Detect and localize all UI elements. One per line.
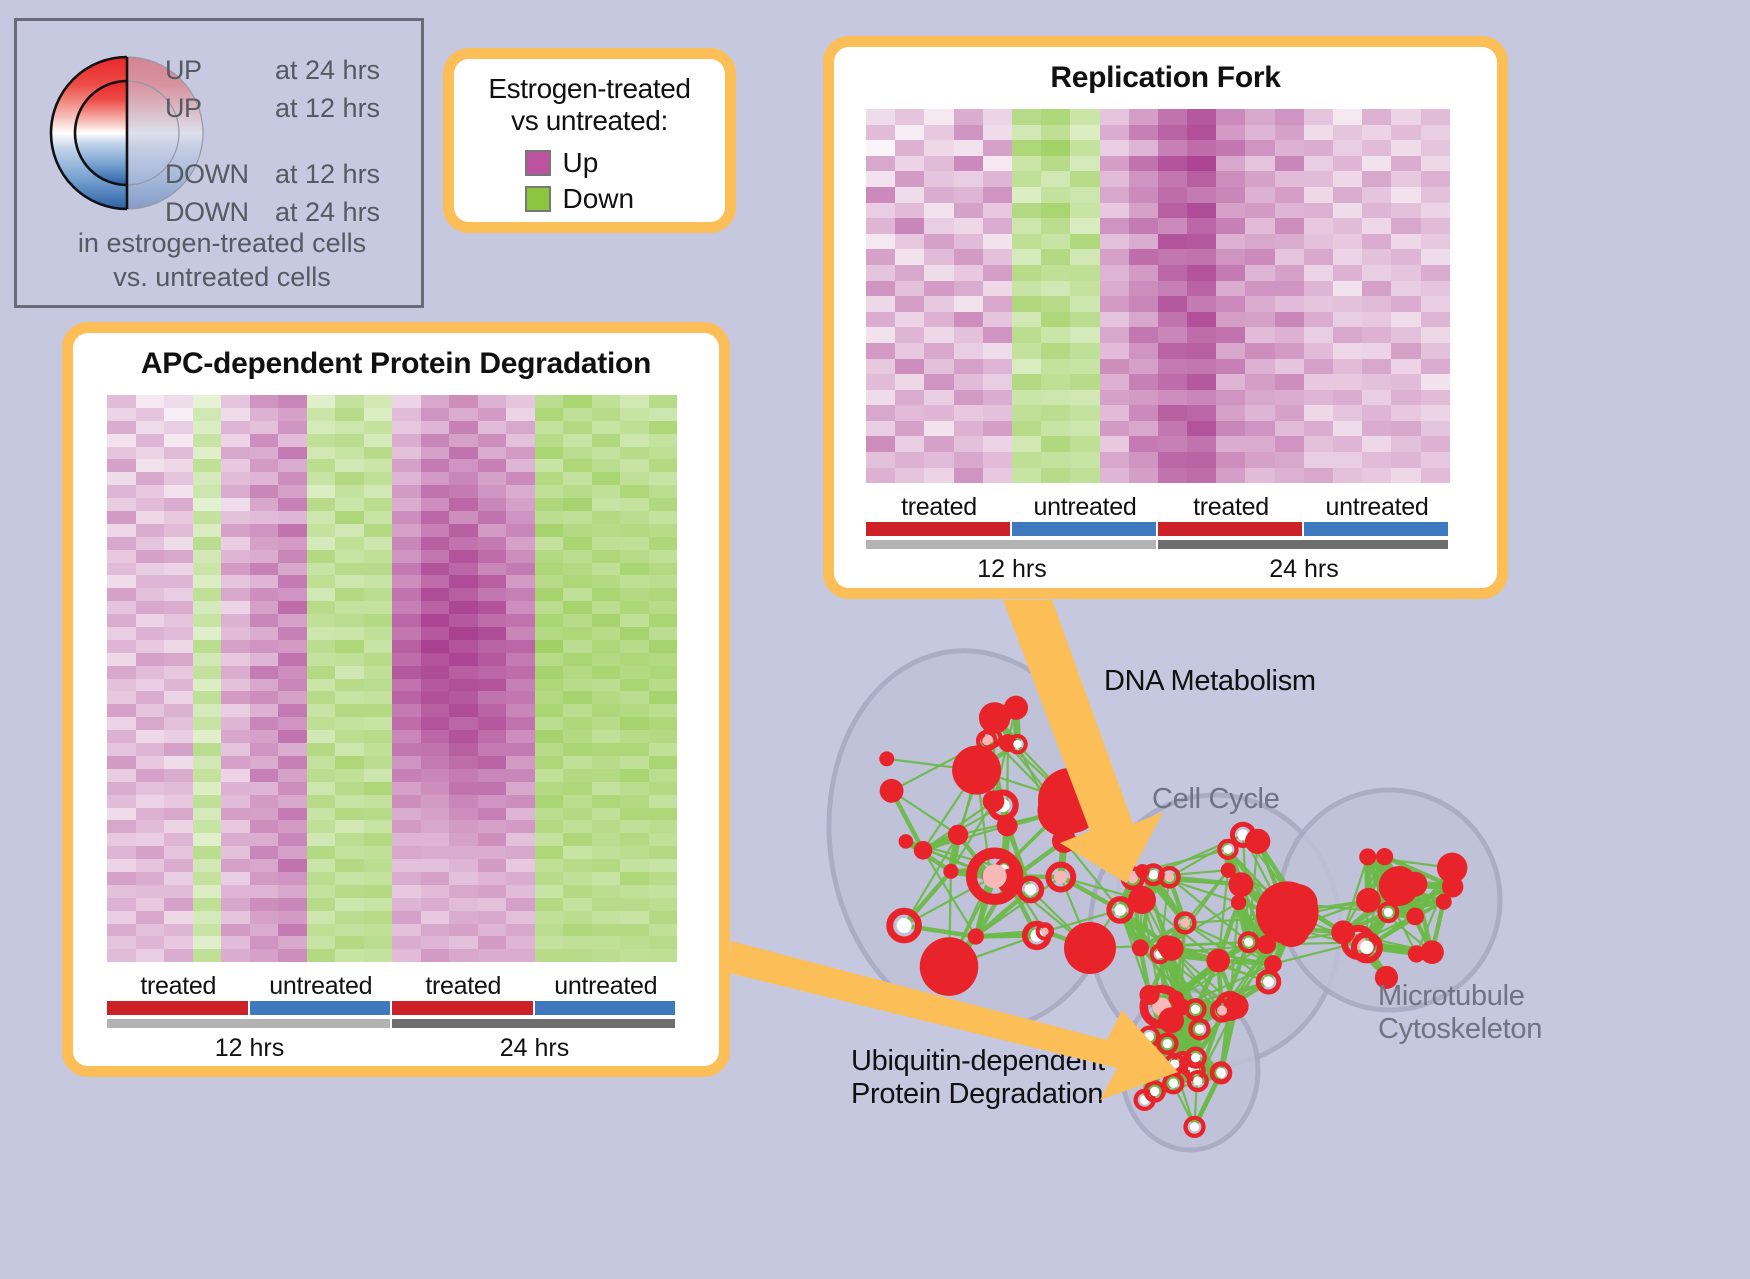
heatmap-cell [1070,468,1099,484]
network-node[interactable] [899,834,914,849]
heatmap-cell [1275,296,1304,312]
heatmap-cell [250,704,279,717]
network-node[interactable] [1206,949,1230,973]
heatmap-cell [164,924,193,937]
heatmap-cell [1041,265,1070,281]
heatmap-cell [449,872,478,885]
heatmap-cell [592,537,621,550]
heatmap-cell [307,730,336,743]
heatmap-cell [164,408,193,421]
heatmap-cell [1275,436,1304,452]
heatmap-cell [1012,405,1041,421]
condition-labels: treateduntreatedtreateduntreated [866,493,1465,522]
heatmap-cell [1187,405,1216,421]
heatmap-cell [1362,312,1391,328]
heatmap-cell [1070,265,1099,281]
heatmap-cell [193,911,222,924]
heatmap-cell [136,601,165,614]
ring-legend-caption: in estrogen-treated cells vs. untreated … [17,227,427,295]
heatmap-cell [278,485,307,498]
network-node[interactable] [1331,920,1355,944]
network-node-core [1149,870,1159,880]
heatmap-cell [620,653,649,666]
heatmap-cell [954,203,983,219]
heatmap-cell [392,550,421,563]
heatmap-cell [535,769,564,782]
heatmap-cell [392,743,421,756]
network-node[interactable] [1064,922,1116,974]
network-node[interactable] [1157,935,1178,956]
heatmap-cell [421,911,450,924]
heatmap-cell [364,898,393,911]
heatmap-cell [307,808,336,821]
heatmap-cell [1421,343,1450,359]
heatmap-cell [335,537,364,550]
heatmap-cell [649,395,678,408]
heatmap-cell [221,743,250,756]
network-node[interactable] [1139,985,1159,1005]
network-node[interactable] [1231,895,1246,910]
heatmap-cell [866,249,895,265]
heatmap-cell [193,795,222,808]
heatmap-cell [1245,203,1274,219]
timepoint-color-bar [107,1019,685,1028]
network-node[interactable] [968,928,984,944]
heatmap-cell [649,640,678,653]
heatmap-cell [250,679,279,692]
heatmap-cell [1333,468,1362,484]
heatmap-cell [221,575,250,588]
heatmap-cell [392,846,421,859]
heatmap-cell [535,872,564,885]
heatmap-cell [563,524,592,537]
heatmap-cell [164,872,193,885]
heatmap-cell [478,614,507,627]
network-node[interactable] [1376,848,1393,865]
heatmap-cell [335,511,364,524]
heatmap-cell [392,472,421,485]
ring-row-key: DOWN [165,197,275,228]
heatmap-cell [649,472,678,485]
heatmap-cell [1362,265,1391,281]
heatmap-cell [1391,327,1420,343]
network-node[interactable] [948,825,968,845]
heatmap-cell [478,575,507,588]
heatmap-cell [392,640,421,653]
ring-legend-rows: UP at 24 hrs UP at 12 hrs DOWN at 12 hrs… [165,51,415,231]
network-node[interactable] [1224,994,1249,1019]
heatmap-cell [1216,359,1245,375]
heatmap-cell [278,408,307,421]
heatmap-cell [278,434,307,447]
heatmap-cell [1187,171,1216,187]
heatmap-cell [1421,171,1450,187]
heatmap-cell [1100,421,1129,437]
heatmap-cell [107,447,136,460]
network-node[interactable] [914,841,933,860]
heatmap-cell [335,730,364,743]
condition-labels: treateduntreatedtreateduntreated [107,972,685,1001]
condition-color-bar [107,1001,685,1015]
heatmap-cell [592,408,621,421]
network-node[interactable] [943,864,958,879]
heatmap-cell [1158,468,1187,484]
heatmap-cell [1275,390,1304,406]
heatmap-cell [335,563,364,576]
heatmap-cell [164,601,193,614]
heatmap-cell [107,666,136,679]
heatmap-cell [563,885,592,898]
heatmap-cell [364,550,393,563]
heatmap-cell [924,468,953,484]
heatmap-cell [1187,343,1216,359]
heatmap-cell [307,653,336,666]
heatmap-cell [107,730,136,743]
heatmap-cell [895,452,924,468]
heatmap-cell [1304,327,1333,343]
heatmap-cell [136,782,165,795]
heatmap-cell [364,679,393,692]
heatmap-cell [449,563,478,576]
heatmap-cell [1333,390,1362,406]
network-node-core [1170,1060,1179,1069]
caption-line-2: vs. untreated cells [17,261,427,295]
heatmap-cell [506,408,535,421]
heatmap-cell [563,704,592,717]
heatmap-cell [478,640,507,653]
heatmap-cell [1245,421,1274,437]
network-node[interactable] [879,751,894,766]
heatmap-cell [649,730,678,743]
network-node[interactable] [1406,908,1424,926]
heatmap-cell [1245,265,1274,281]
heatmap-cell [1421,312,1450,328]
heatmap-cell [924,140,953,156]
heatmap-cell [221,885,250,898]
network-node-core [1165,872,1175,882]
heatmap-cell [164,859,193,872]
heatmap-cell [1070,421,1099,437]
heatmap-cell [1391,468,1420,484]
heatmap-cell [506,743,535,756]
heatmap-cell [1012,109,1041,125]
heatmap-cell [1362,452,1391,468]
heatmap-cell [1421,421,1450,437]
heatmap-cell [1275,359,1304,375]
heatmap-cell [221,717,250,730]
heatmap-cell [421,434,450,447]
network-node[interactable] [1356,888,1381,913]
heatmap-cell [421,588,450,601]
condition-color-bar [866,522,1465,536]
heatmap-cell [983,218,1012,234]
heatmap-cell [620,601,649,614]
heatmap-cell [278,550,307,563]
heatmap-cell [563,691,592,704]
heatmap-cell [1041,281,1070,297]
heatmap-cell [563,511,592,524]
heatmap-cell [1187,359,1216,375]
heatmap-cell [364,666,393,679]
heatmap-cell [278,833,307,846]
heatmap-cell [620,459,649,472]
heatmap-cell [250,524,279,537]
heatmap-cell [107,614,136,627]
heatmap-cell [478,795,507,808]
heatmap-cell [1304,109,1333,125]
heatmap-cell [506,447,535,460]
heatmap-cell [954,468,983,484]
heatmap-cell [164,472,193,485]
heatmap-cell [1041,452,1070,468]
heatmap-cell [250,601,279,614]
heatmap-cell [1012,218,1041,234]
heatmap-cell [250,666,279,679]
heatmap-cell [1421,218,1450,234]
heatmap-cell [592,614,621,627]
heatmap-cell [1216,265,1245,281]
ring-legend-row: UP at 12 hrs [165,89,415,127]
condition-bar-segment [1304,522,1448,536]
network-node[interactable] [1442,876,1463,897]
heatmap-cell [250,717,279,730]
heatmap-cell [506,756,535,769]
heatmap-cell [592,717,621,730]
heatmap-replication-fork [866,109,1465,483]
heatmap-cell [1362,436,1391,452]
heatmap-cell [335,679,364,692]
heatmap-cell [335,434,364,447]
heatmap-cell [1158,265,1187,281]
heatmap-cell [1216,374,1245,390]
heatmap-cell [1275,421,1304,437]
heatmap-cell [1041,296,1070,312]
heatmap-cell [193,846,222,859]
heatmap-cell [983,109,1012,125]
heatmap-cell [1216,436,1245,452]
heatmap-cell [221,601,250,614]
heatmap-cell [866,187,895,203]
timepoint-bar-segment [866,540,1156,549]
heatmap-cell [1100,140,1129,156]
heatmap-cell [1100,374,1129,390]
heatmap-cell [221,614,250,627]
heatmap-cell [620,782,649,795]
network-node[interactable] [1004,696,1028,720]
heatmap-cell [592,524,621,537]
heatmap-cell [193,498,222,511]
network-node[interactable] [1132,939,1149,956]
heatmap-cell [364,820,393,833]
heatmap-cell [983,265,1012,281]
network-node[interactable] [880,779,904,803]
heatmap-cell [563,640,592,653]
network-node[interactable] [920,937,979,996]
heatmap-cell [1012,468,1041,484]
heatmap-cell [563,563,592,576]
heatmap-cell [535,653,564,666]
heatmap-cell [895,203,924,219]
network-node[interactable] [1275,917,1289,931]
heatmap-cell [392,949,421,962]
heatmap-cell [620,408,649,421]
heatmap-cell [866,125,895,141]
heatmap-cell [620,846,649,859]
heatmap-cell [1245,359,1274,375]
heatmap-cell [895,312,924,328]
heatmap-cell [421,563,450,576]
network-node-core [897,918,912,933]
heatmap-cell [592,575,621,588]
heatmap-cell [1362,140,1391,156]
heatmap-cell [649,717,678,730]
heatmap-cell [506,833,535,846]
heatmap-cell [1158,140,1187,156]
heatmap-cell [164,485,193,498]
heatmap-cell [1187,156,1216,172]
heatmap-cell [221,704,250,717]
heatmap-cell [250,885,279,898]
heatmap-cell [649,563,678,576]
ring-row-value: at 12 hrs [275,159,380,190]
heatmap-cell [592,949,621,962]
heatmap-cell [649,769,678,782]
network-node[interactable] [1420,940,1444,964]
network-node[interactable] [1158,1007,1184,1033]
heatmap-cell [592,563,621,576]
network-node-core [1025,884,1037,896]
heatmap-cell [1158,187,1187,203]
heatmap-cell [1100,171,1129,187]
heatmap-apc-degradation [107,395,685,962]
heatmap-cell [1041,436,1070,452]
heatmap-cell [449,498,478,511]
heatmap-cell [164,627,193,640]
heatmap-cell [1216,156,1245,172]
heatmap-cell [1012,374,1041,390]
heatmap-cell [136,563,165,576]
heatmap-cell [193,769,222,782]
heatmap-cell [620,434,649,447]
ring-row-key: UP [165,55,275,86]
heatmap-cell [649,485,678,498]
network-edge [1007,743,1008,826]
heatmap-cell [954,109,983,125]
heatmap-cell [1070,203,1099,219]
heatmap-cell [392,704,421,717]
heatmap-cell [335,859,364,872]
heatmap-cell [649,408,678,421]
heatmap-cell [307,627,336,640]
heatmap-cell [535,498,564,511]
heatmap-cell [364,421,393,434]
ub-line-1: Ubiquitin-dependent [851,1045,1105,1078]
heatmap-cell [478,447,507,460]
heatmap-cell [954,265,983,281]
heatmap-cell [307,872,336,885]
heatmap-cell [392,434,421,447]
heatmap-cell [221,550,250,563]
heatmap-cell [307,524,336,537]
heatmap-cell [221,395,250,408]
network-node[interactable] [983,790,1005,812]
heatmap-cell [478,756,507,769]
heatmap-cell [392,911,421,924]
heatmap-cell [895,327,924,343]
heatmap-cell [1012,140,1041,156]
heatmap-cell [221,872,250,885]
heatmap-cell [1070,452,1099,468]
heatmap-cell [136,846,165,859]
heatmap-cell [535,691,564,704]
heatmap-cell [1012,125,1041,141]
heatmap-cell [278,679,307,692]
heatmap-cell [1187,390,1216,406]
heatmap-cell [1304,203,1333,219]
heatmap-cell [506,885,535,898]
heatmap-cell [1100,359,1129,375]
network-node[interactable] [952,746,1001,795]
heatmap-cell [983,436,1012,452]
heatmap-cell [1362,171,1391,187]
heatmap-cell [1275,343,1304,359]
heatmap-cell [449,898,478,911]
network-node[interactable] [1228,872,1253,897]
heatmap-cell [895,140,924,156]
heatmap-cell [478,653,507,666]
heatmap-cell [1245,234,1274,250]
down-label: Down [563,183,655,215]
heatmap-cell [535,756,564,769]
heatmap-cell [421,485,450,498]
network-node[interactable] [997,815,1018,836]
heatmap-cell [1041,234,1070,250]
network-node[interactable] [1359,848,1376,865]
network-node[interactable] [1038,768,1103,833]
heatmap-cell [278,563,307,576]
heatmap-cell [164,795,193,808]
heatmap-cell [592,691,621,704]
heatmap-cell [107,511,136,524]
heatmap-cell [649,679,678,692]
heatmap-cell [392,730,421,743]
heatmap-cell [449,808,478,821]
heatmap-cell [335,704,364,717]
heatmap-cell [620,550,649,563]
heatmap-cell [563,936,592,949]
heatmap-cell [506,627,535,640]
heatmap-cell [983,140,1012,156]
heatmap-cell [592,756,621,769]
network-node[interactable] [1128,886,1156,914]
heatmap-cell [250,911,279,924]
heatmap-cell [278,601,307,614]
heatmap-cell [449,782,478,795]
heatmap-cell [1245,218,1274,234]
heatmap-cell [193,447,222,460]
network-node[interactable] [1379,866,1419,906]
heatmap-cell [107,421,136,434]
network-node[interactable] [1264,955,1282,973]
heatmap-cell [1216,327,1245,343]
heatmap-cell [1362,296,1391,312]
network-node[interactable] [1245,829,1270,854]
heatmap-cell [535,627,564,640]
heatmap-cell [136,472,165,485]
heatmap-cell [1041,171,1070,187]
heatmap-cell [136,949,165,962]
heatmap-cell [250,949,279,962]
